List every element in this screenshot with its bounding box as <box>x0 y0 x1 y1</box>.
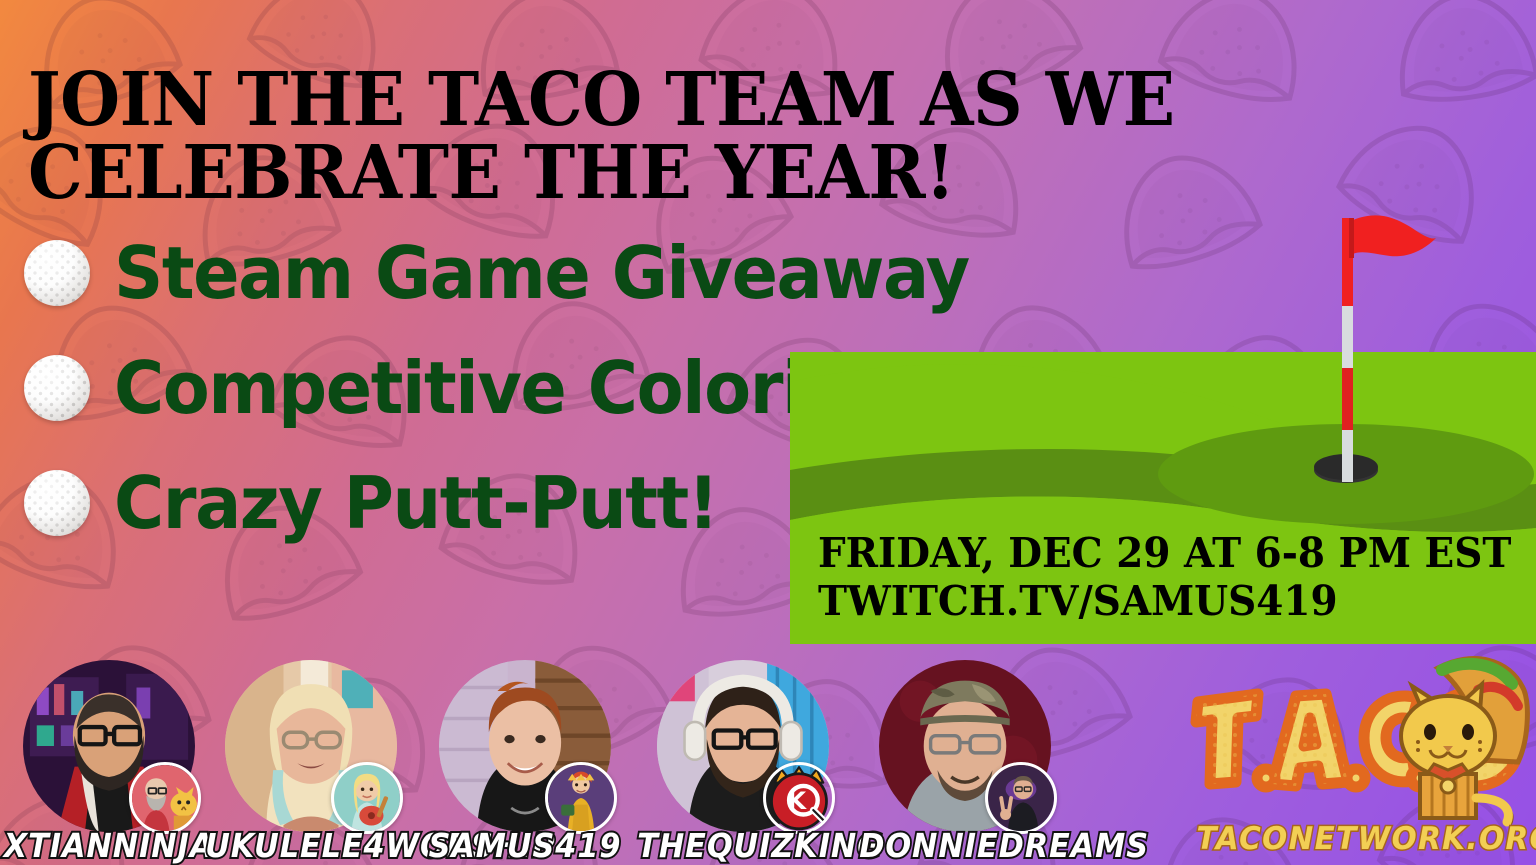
creator-name: DonnieDreams <box>859 826 1071 865</box>
badge-ukulele4worship <box>331 762 403 834</box>
creator-name: TheQuizKing <box>637 826 849 865</box>
creator-card[interactable]: Ukulele4Worship <box>196 660 426 865</box>
page-title: Join the Taco Team as we celebrate the y… <box>28 64 1125 211</box>
taco-wordmark-and-mascot <box>1180 650 1530 828</box>
creator-name: Ukulele4Worship <box>205 826 417 865</box>
activity-list: Steam Game Giveaway Competitive Coloring… <box>24 215 844 560</box>
golf-ball-icon <box>24 470 90 536</box>
creator-name: Samus419 <box>419 826 631 865</box>
avatar-wrap <box>439 660 611 832</box>
list-item: Competitive Coloring <box>24 330 844 445</box>
event-stream-url: twitch.tv/samus419 <box>818 578 1511 626</box>
promo-poster: Join the Taco Team as we celebrate the y… <box>0 0 1536 865</box>
taco-icon <box>1322 95 1509 267</box>
avatar-wrap <box>879 660 1051 832</box>
avatar-wrap <box>225 660 397 832</box>
creator-card[interactable]: XtianNinja <box>0 660 224 865</box>
badge-thequizking: K <box>763 762 835 834</box>
badge-xtianninja <box>129 762 201 834</box>
avatar-wrap <box>23 660 195 832</box>
badge-donniedreams <box>985 762 1057 834</box>
taco-network-url[interactable]: TACONETWORK.ORG <box>1197 821 1522 857</box>
headline-line-1: Join the Taco Team as we <box>28 64 1125 137</box>
creator-card[interactable]: Samus419 <box>410 660 640 865</box>
activity-label: Crazy Putt-Putt! <box>114 467 718 539</box>
list-item: Crazy Putt-Putt! <box>24 445 844 560</box>
taco-network-logo[interactable]: TACONETWORK.ORG <box>1180 650 1530 865</box>
event-datetime: Friday, Dec 29 at 6-8 PM EST <box>818 530 1511 578</box>
creator-card[interactable]: DonnieDreams <box>850 660 1080 865</box>
taco-icon <box>1382 0 1536 120</box>
badge-samus419 <box>545 762 617 834</box>
golf-ball-icon <box>24 355 90 421</box>
avatar-wrap: K <box>657 660 829 832</box>
activity-label: Steam Game Giveaway <box>114 237 969 309</box>
activity-label: Competitive Coloring <box>114 352 899 424</box>
headline-line-2: celebrate the year! <box>28 137 1125 210</box>
event-details: Friday, Dec 29 at 6-8 PM EST twitch.tv/s… <box>818 530 1511 625</box>
creator-name: XtianNinja <box>3 826 215 865</box>
golf-ball-icon <box>24 240 90 306</box>
creator-card[interactable]: K TheQuizKing <box>628 660 858 865</box>
list-item: Steam Game Giveaway <box>24 215 844 330</box>
